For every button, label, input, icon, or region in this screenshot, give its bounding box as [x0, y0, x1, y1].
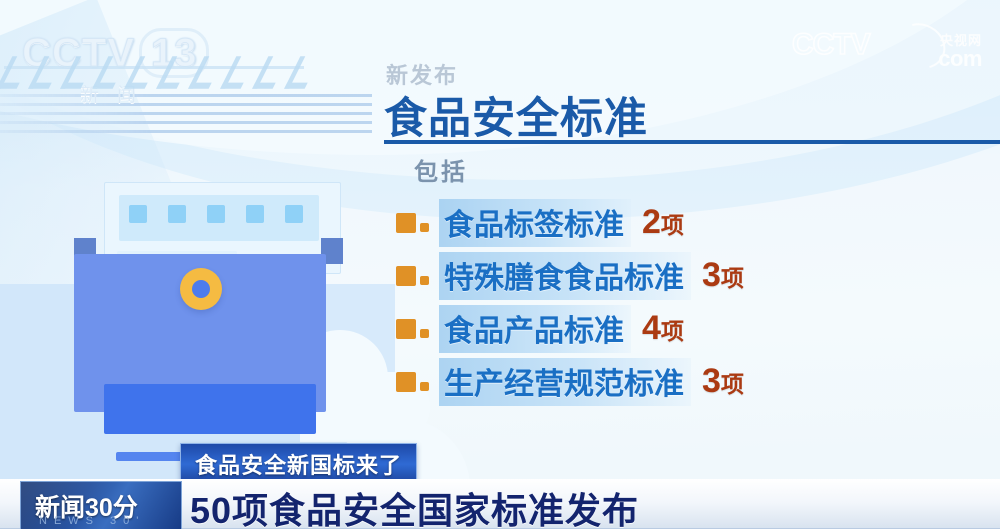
includes-label: 包括	[414, 152, 468, 187]
illustration-cell	[246, 205, 264, 223]
chevron-left-icon	[252, 56, 289, 88]
list-item: 特殊膳食食品标准 3项	[396, 249, 996, 302]
watermark-com-text: com	[938, 46, 982, 72]
illustration-document-cells	[129, 205, 303, 223]
list-item-count-number: 3	[702, 256, 720, 294]
chevron-arrow-group	[0, 52, 370, 92]
square-bullet-icon	[396, 213, 429, 233]
program-logo: 新闻30分 NEWS 30'	[20, 481, 182, 529]
list-item-count: 3项	[702, 362, 744, 401]
list-item-count: 4项	[642, 309, 684, 348]
illustration-cell	[129, 205, 147, 223]
list-item-label: 生产经营规范标准	[439, 358, 691, 406]
list-item-count-number: 4	[642, 309, 660, 347]
chevron-left-icon	[92, 56, 129, 88]
list-item: 生产经营规范标准 3项	[396, 355, 996, 408]
chevron-left-icon	[28, 56, 65, 88]
square-bullet-icon	[396, 372, 429, 392]
square-bullet-icon	[396, 319, 429, 339]
chevron-left-icon	[220, 56, 257, 88]
list-item: 食品产品标准 4项	[396, 302, 996, 355]
chevron-left-icon	[124, 56, 161, 88]
list-item-label: 食品标签标准	[439, 199, 631, 247]
title-divider	[384, 140, 1000, 144]
chevron-left-icon	[0, 56, 33, 88]
standards-list: 食品标签标准 2项 特殊膳食食品标准 3项 食品产品标准 4项	[396, 196, 996, 408]
list-item: 食品标签标准 2项	[396, 196, 996, 249]
chevron-left-icon	[156, 56, 193, 88]
square-bullet-icon	[396, 266, 429, 286]
list-item-count: 2项	[642, 203, 684, 242]
list-item-count-unit: 项	[721, 371, 744, 397]
chevron-left-icon	[188, 56, 225, 88]
illustration-cell	[168, 205, 186, 223]
illustration-folder-stripe	[104, 384, 316, 434]
news-headline: 50项食品安全国家标准发布	[190, 482, 639, 529]
list-item-count-unit: 项	[721, 265, 744, 291]
list-item-count-unit: 项	[661, 318, 684, 344]
chevron-left-icon	[60, 56, 97, 88]
cctv-com-watermark: CCTV 央视网 com	[792, 30, 982, 76]
illustration-cell	[207, 205, 225, 223]
page-title: 食品安全标准	[384, 84, 648, 146]
list-item-label: 食品产品标准	[439, 305, 631, 353]
chevron-left-icon	[284, 56, 321, 88]
document-folder-illustration	[66, 182, 351, 412]
list-item-count: 3项	[702, 256, 744, 295]
list-item-count-number: 3	[702, 362, 720, 400]
program-logo-en: NEWS 30'	[39, 515, 145, 527]
illustration-cell	[285, 205, 303, 223]
list-item-count-unit: 项	[661, 212, 684, 238]
list-item-label: 特殊膳食食品标准	[439, 252, 691, 300]
illustration-folder-clasp-icon	[180, 268, 222, 310]
list-item-count-number: 2	[642, 203, 660, 241]
broadcast-graphic-screen: CCTV13 新闻 CCTV 央视网 com	[0, 0, 1000, 529]
